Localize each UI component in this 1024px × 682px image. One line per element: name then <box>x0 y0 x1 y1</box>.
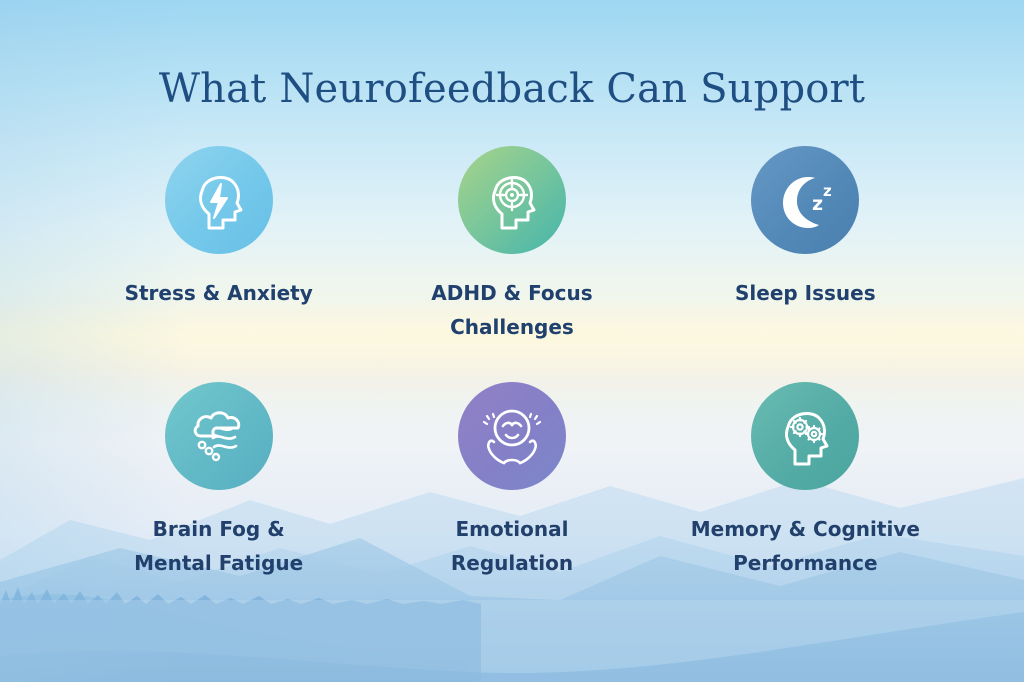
head-lightning-icon <box>165 146 273 254</box>
support-item-sleep-issues[interactable]: z z Sleep Issues <box>659 146 952 382</box>
head-gears-memory-icon <box>751 382 859 490</box>
support-item-label: Emotional Regulation <box>451 512 573 581</box>
support-areas-grid: Stress & Anxiety ADHD & Focus Challenges <box>72 146 952 618</box>
support-item-label: Sleep Issues <box>735 276 876 310</box>
support-item-stress-anxiety[interactable]: Stress & Anxiety <box>72 146 365 382</box>
page-title: What Neurofeedback Can Support <box>0 66 1024 112</box>
cloud-fog-icon <box>165 382 273 490</box>
head-target-focus-icon <box>458 146 566 254</box>
support-item-memory-cognitive[interactable]: Memory & Cognitive Performance <box>659 382 952 618</box>
svg-text:z: z <box>823 182 832 200</box>
moon-zzz-sleep-icon: z z <box>751 146 859 254</box>
support-item-label: ADHD & Focus Challenges <box>431 276 592 345</box>
hands-calm-face-icon <box>458 382 566 490</box>
support-item-brain-fog[interactable]: Brain Fog & Mental Fatigue <box>72 382 365 618</box>
support-item-label: Memory & Cognitive Performance <box>691 512 920 581</box>
svg-text:z: z <box>812 193 823 215</box>
support-item-emotional-regulation[interactable]: Emotional Regulation <box>365 382 658 618</box>
support-item-label: Stress & Anxiety <box>125 276 313 310</box>
support-item-label: Brain Fog & Mental Fatigue <box>134 512 303 581</box>
infographic-canvas: What Neurofeedback Can Support Stress & … <box>0 0 1024 682</box>
support-item-adhd-focus[interactable]: ADHD & Focus Challenges <box>365 146 658 382</box>
